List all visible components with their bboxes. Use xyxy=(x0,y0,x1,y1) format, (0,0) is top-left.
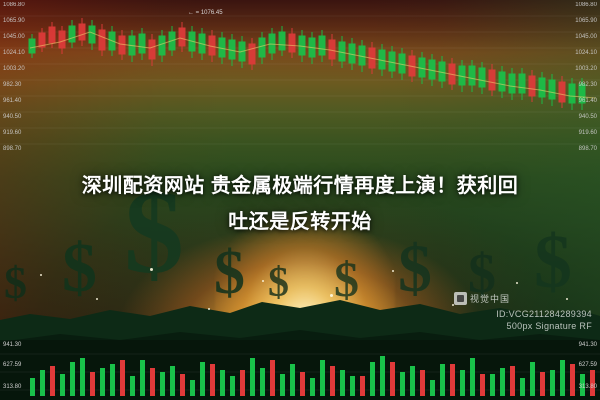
right-axis-label-3: 1024.10 xyxy=(575,50,597,56)
volume-right-axis-label-0: 941.30 xyxy=(579,342,597,348)
image-canvas: ← = 1076.45 1086.80 1065.90 1045.00 1024… xyxy=(0,0,600,400)
chart-annotation: ← = 1076.45 xyxy=(188,10,223,16)
volume-right-axis-label-2: 313.80 xyxy=(579,384,597,390)
headline-line-1: 深圳配资网站 贵金属极端行情再度上演！获利回 xyxy=(0,168,600,204)
left-axis-label-0: 1086.80 xyxy=(3,2,25,8)
left-axis-label-3: 1024.10 xyxy=(3,50,25,56)
left-axis-label-2: 1045.00 xyxy=(3,34,25,40)
right-axis-label-8: 919.60 xyxy=(579,130,597,136)
left-axis-label-5: 982.30 xyxy=(3,82,21,88)
left-axis-label-6: 961.40 xyxy=(3,98,21,104)
right-axis-label-7: 940.50 xyxy=(579,114,597,120)
watermark-brand-label: 视觉中国 xyxy=(470,292,510,305)
watermark: 视觉中国 ID:VCG211284289394 500px Signature … xyxy=(422,292,592,338)
vcg-logo-icon xyxy=(454,292,467,305)
right-axis-label-5: 982.30 xyxy=(579,82,597,88)
volume-chart: 941.30 627.59 313.80 941.30 627.59 313.8… xyxy=(0,340,600,400)
right-axis-label-9: 898.70 xyxy=(579,146,597,152)
volume-bars xyxy=(30,356,595,396)
headline-line-2: 吐还是反转开始 xyxy=(0,204,600,240)
left-axis-label-9: 898.70 xyxy=(3,146,21,152)
volume-left-axis-label-2: 313.80 xyxy=(3,384,21,390)
left-axis-label-4: 1003.20 xyxy=(3,66,25,72)
price-chart: ← = 1076.45 1086.80 1065.90 1045.00 1024… xyxy=(0,0,600,160)
watermark-id: ID:VCG211284289394 xyxy=(496,309,592,319)
right-axis-label-1: 1065.90 xyxy=(575,18,597,24)
price-chart-svg xyxy=(0,0,600,160)
volume-chart-svg xyxy=(0,340,600,400)
headline-overlay: 深圳配资网站 贵金属极端行情再度上演！获利回 吐还是反转开始 xyxy=(0,168,600,240)
right-axis-label-0: 1086.80 xyxy=(575,2,597,8)
volume-left-axis-label-1: 627.59 xyxy=(3,362,21,368)
watermark-logo: 视觉中国 xyxy=(454,292,510,305)
volume-right-axis-label-1: 627.59 xyxy=(579,362,597,368)
left-axis-label-1: 1065.90 xyxy=(3,18,25,24)
volume-left-axis-label-0: 941.30 xyxy=(3,342,21,348)
left-axis-label-7: 940.50 xyxy=(3,114,21,120)
left-axis-label-8: 919.60 xyxy=(3,130,21,136)
watermark-license: 500px Signature RF xyxy=(507,321,592,331)
right-axis-label-6: 961.40 xyxy=(579,98,597,104)
right-axis-label-2: 1045.00 xyxy=(575,34,597,40)
right-axis-label-4: 1003.20 xyxy=(575,66,597,72)
